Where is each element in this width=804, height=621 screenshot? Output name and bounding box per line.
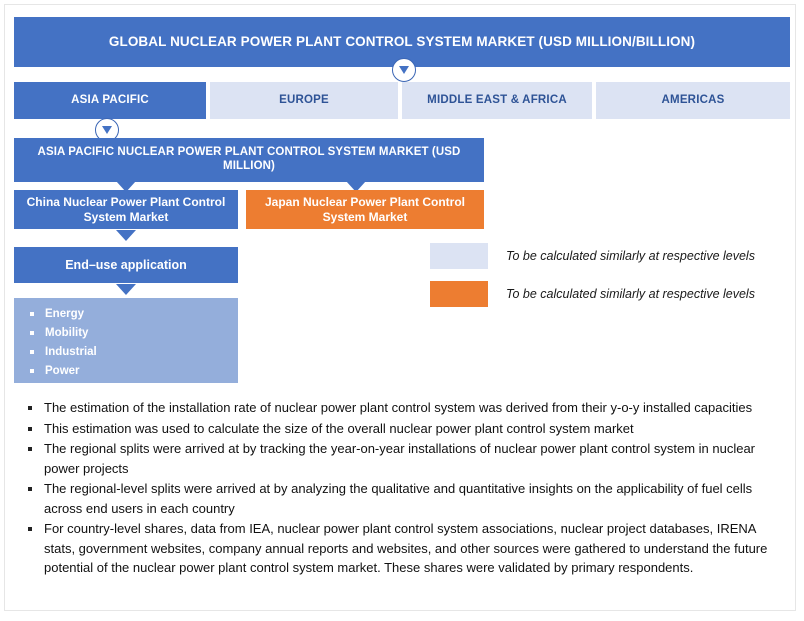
note-item: The estimation of the installation rate … <box>14 398 790 418</box>
diagram-page: GLOBAL NUCLEAR POWER PLANT CONTROL SYSTE… <box>0 0 804 621</box>
region-box-europe[interactable]: EUROPE <box>210 82 398 119</box>
chevron-down-icon-global-to-region <box>392 58 416 82</box>
asia-pacific-market-bar: ASIA PACIFIC NUCLEAR POWER PLANT CONTROL… <box>14 138 484 182</box>
arrow-down-to-enduse-list <box>116 284 136 295</box>
enduse-application-list: Energy Mobility Industrial Power <box>14 298 238 383</box>
country-box-japan[interactable]: Japan Nuclear Power Plant Control System… <box>246 190 484 229</box>
legend-item-light-blue: To be calculated similarly at respective… <box>430 243 755 269</box>
legend-item-orange: To be calculated similarly at respective… <box>430 281 755 307</box>
chevron-down-glyph <box>102 126 112 134</box>
region-box-middle-east-africa[interactable]: MIDDLE EAST & AFRICA <box>402 82 592 119</box>
list-item: Power <box>30 362 238 381</box>
list-item: Industrial <box>30 343 238 362</box>
region-box-americas[interactable]: AMERICAS <box>596 82 790 119</box>
legend-label-light-blue: To be calculated similarly at respective… <box>506 249 755 263</box>
region-box-asia-pacific[interactable]: ASIA PACIFIC <box>14 82 206 119</box>
list-item: Energy <box>30 305 238 324</box>
country-box-china[interactable]: China Nuclear Power Plant Control System… <box>14 190 238 229</box>
legend-label-orange: To be calculated similarly at respective… <box>506 287 755 301</box>
note-item: This estimation was used to calculate th… <box>14 419 790 439</box>
enduse-application-box[interactable]: End–use application <box>14 247 238 283</box>
legend-swatch-light-blue <box>430 243 488 269</box>
list-item: Mobility <box>30 324 238 343</box>
legend-swatch-orange <box>430 281 488 307</box>
note-item: The regional splits were arrived at by t… <box>14 439 790 478</box>
note-item: For country-level shares, data from IEA,… <box>14 519 790 578</box>
note-item: The regional-level splits were arrived a… <box>14 479 790 518</box>
arrow-down-to-enduse <box>116 230 136 241</box>
methodology-notes-list: The estimation of the installation rate … <box>14 398 790 579</box>
chevron-down-glyph <box>399 66 409 74</box>
